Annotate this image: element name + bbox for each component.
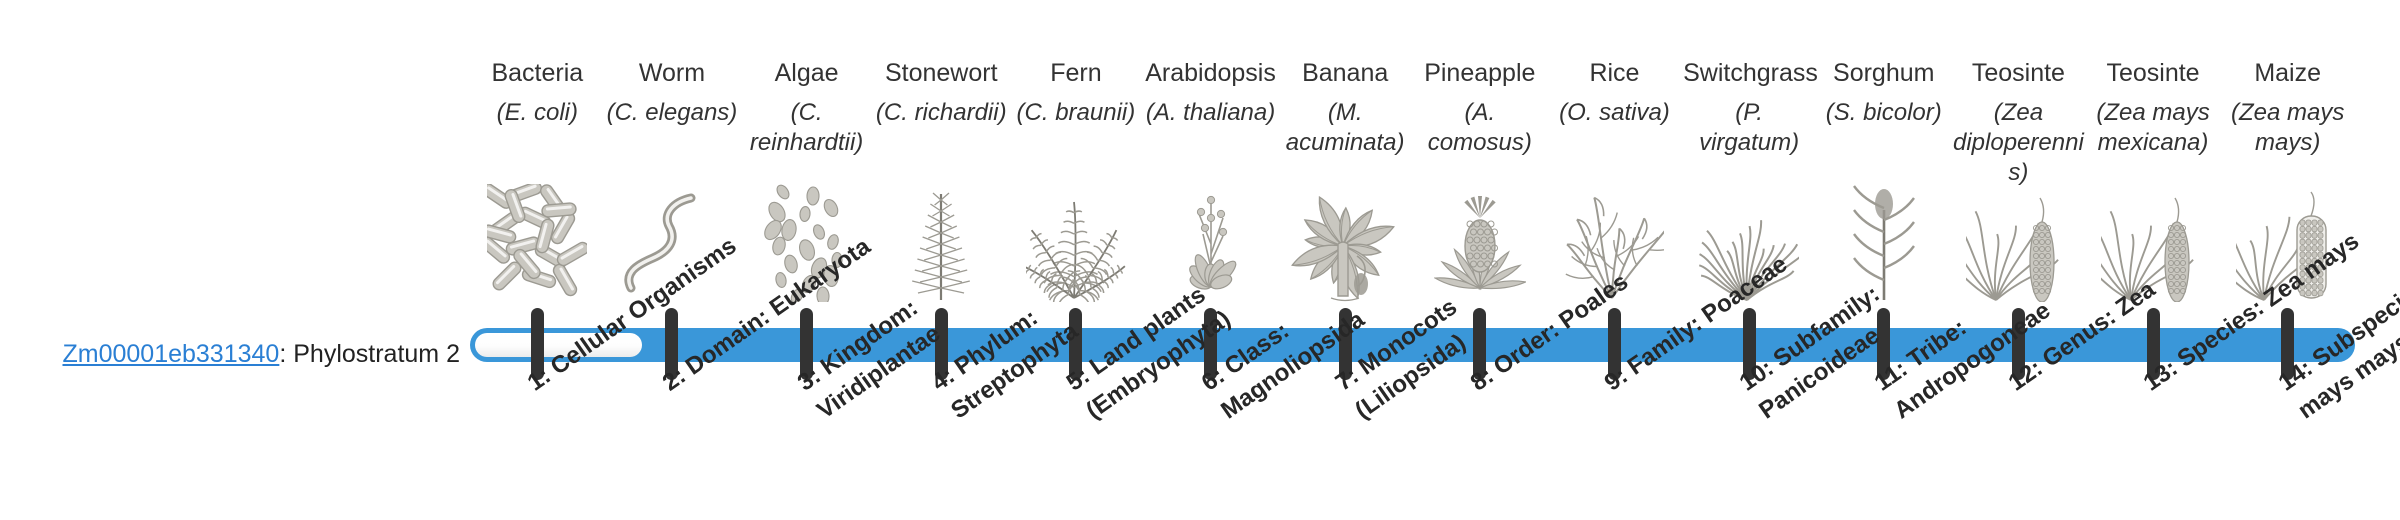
species-scientific-name: (Zea mays mays) <box>2222 98 2354 158</box>
species-common-name: Maize <box>2222 58 2354 88</box>
species-column-teosinte-12: Teosinte(Zea diploperennis) <box>1952 58 2084 188</box>
species-scientific-name: (A. comosus) <box>1414 98 1546 158</box>
species-common-name: Stonewort <box>875 58 1007 88</box>
species-column-switchgrass-10: Switchgrass(P. virgatum) <box>1683 58 1815 158</box>
species-common-name: Worm <box>606 58 738 88</box>
species-common-name: Arabidopsis <box>1145 58 1277 88</box>
species-scientific-name: (C. braunii) <box>1010 98 1142 128</box>
species-scientific-name: (Zea diploperennis) <box>1952 98 2084 188</box>
rank-name: Kingdom: Viridiplantae <box>812 294 945 424</box>
species-common-name: Teosinte <box>2087 58 2219 88</box>
species-scientific-name: (C. elegans) <box>606 98 738 128</box>
rank-number: 6: <box>1196 362 1229 396</box>
species-column-worm-2: Worm(C. elegans) <box>606 58 738 128</box>
phylostratum-value: Phylostratum 2 <box>293 340 460 368</box>
rank-number: 7: <box>1331 362 1364 396</box>
species-common-name: Banana <box>1279 58 1411 88</box>
species-column-arabidopsis-6: Arabidopsis(A. thaliana) <box>1145 58 1277 128</box>
phylostratum-timeline: Zm00001eb331340: Phylostratum 2 Bacteria… <box>0 0 2400 520</box>
species-common-name: Algae <box>741 58 873 88</box>
rank-label-1: 1: Cellular Organisms <box>521 223 753 400</box>
species-scientific-name: (P. virgatum) <box>1683 98 1815 158</box>
rank-number: 3: <box>792 362 825 396</box>
species-common-name: Switchgrass <box>1683 58 1815 88</box>
species-column-banana-7: Banana(M. acuminata) <box>1279 58 1411 158</box>
species-scientific-name: (C. reinhardtii) <box>741 98 873 158</box>
species-common-name: Fern <box>1010 58 1142 88</box>
species-column-maize-14: Maize(Zea mays mays) <box>2222 58 2354 158</box>
rank-name: Subfamily: Panicoideae <box>1754 280 1884 424</box>
species-scientific-name: (Zea mays mexicana) <box>2087 98 2219 158</box>
species-scientific-name: (M. acuminata) <box>1279 98 1411 158</box>
species-common-name: Pineapple <box>1414 58 1546 88</box>
species-scientific-name: (C. richardii) <box>875 98 1007 128</box>
gene-phylostratum-label: Zm00001eb331340: Phylostratum 2 <box>0 340 460 369</box>
species-column-fern-5: Fern(C. braunii) <box>1010 58 1142 128</box>
gene-label-separator: : <box>279 340 293 368</box>
species-column-pineapple-8: Pineapple(A. comosus) <box>1414 58 1546 158</box>
species-scientific-name: (S. bicolor) <box>1818 98 1950 128</box>
species-column-sorghum-11: Sorghum(S. bicolor) <box>1818 58 1950 128</box>
species-column-rice-9: Rice(O. sativa) <box>1548 58 1680 128</box>
species-scientific-name: (A. thaliana) <box>1145 98 1277 128</box>
rank-number: 8: <box>1466 362 1499 396</box>
species-column-bacteria-1: Bacteria(E. coli) <box>471 58 603 128</box>
species-common-name: Sorghum <box>1818 58 1950 88</box>
gene-id-link[interactable]: Zm00001eb331340 <box>62 340 279 368</box>
species-common-name: Rice <box>1548 58 1680 88</box>
rank-number: 2: <box>658 362 691 396</box>
bacteria-illustration <box>471 172 603 302</box>
species-scientific-name: (E. coli) <box>471 98 603 128</box>
species-scientific-name: (O. sativa) <box>1548 98 1680 128</box>
rank-number: 5: <box>1062 362 1095 396</box>
species-common-name: Bacteria <box>471 58 603 88</box>
species-column-stonewort-4: Stonewort(C. richardii) <box>875 58 1007 128</box>
species-common-name: Teosinte <box>1952 58 2084 88</box>
species-column-teosinte-13: Teosinte(Zea mays mexicana) <box>2087 58 2219 158</box>
species-column-algae-3: Algae(C. reinhardtii) <box>741 58 873 158</box>
